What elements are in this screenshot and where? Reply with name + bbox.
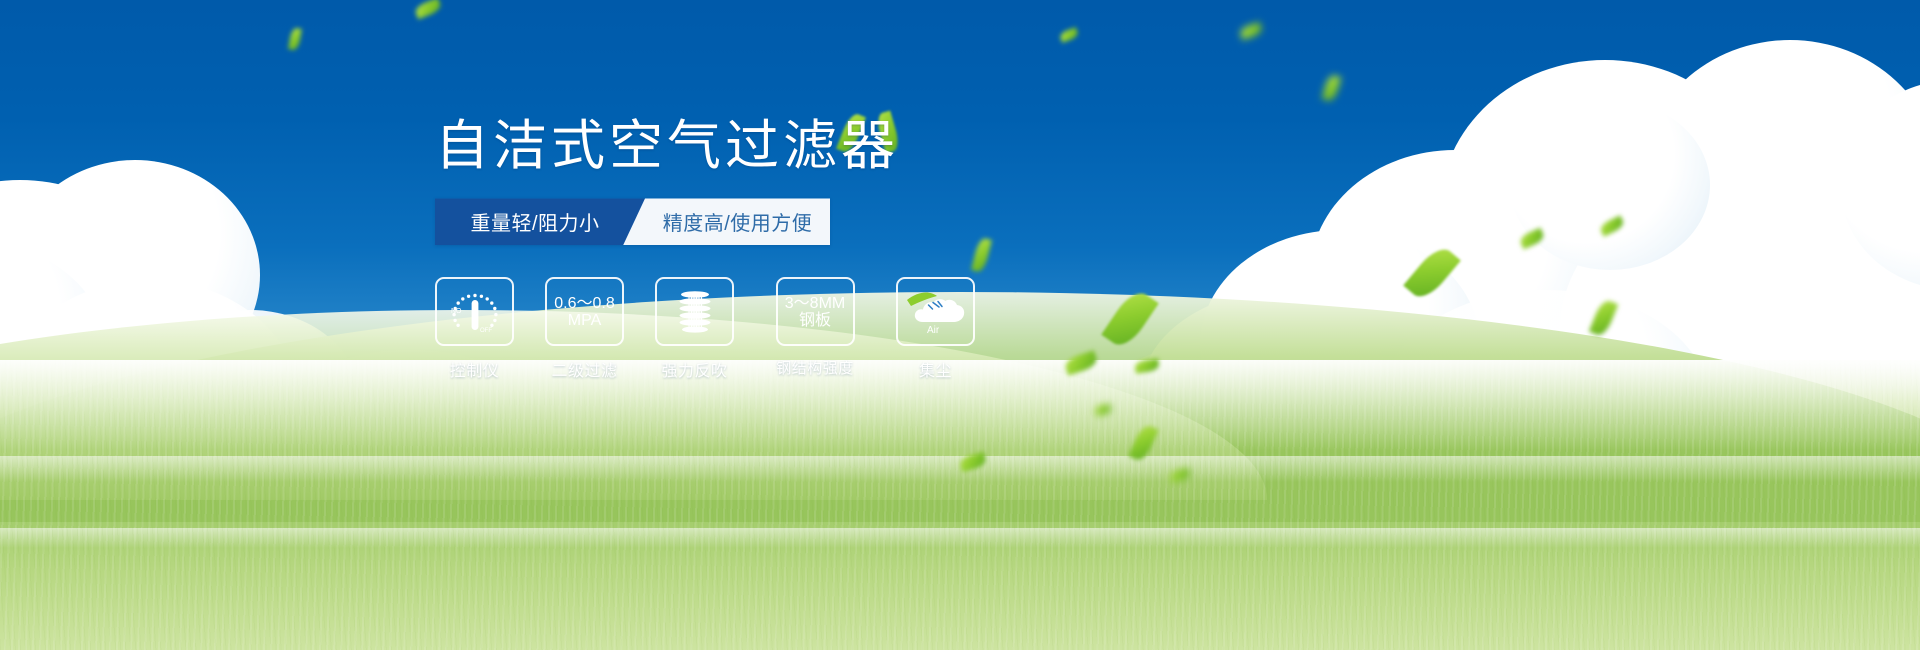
banner-content: 自洁式空气过滤器 重量轻/阻力小 精度高/使用方便 [435,116,1155,381]
feature-caption-steel: 钢结构强度 [776,357,854,378]
feature-list: NO OFF 控制仪 0.6～0.8 MPA 二级过滤 [435,277,1155,381]
air-label: Air [927,325,940,336]
steel-material: 钢板 [785,312,845,329]
pressure-text-icon: 0.6～0.8 MPA [554,295,615,330]
grass-field [0,360,1920,650]
tagline-tab-primary[interactable]: 重量轻/阻力小 [435,198,645,245]
gauge-label-off: OFF [480,328,492,334]
feature-item-blowback[interactable]: 强力反吹 [655,277,734,381]
feature-caption-blowback: 强力反吹 [661,357,727,381]
feature-item-dust[interactable]: Air 集尘 [896,277,975,381]
feature-box-steel: 3～8MM 钢板 [776,277,855,346]
tagline-tab-secondary[interactable]: 精度高/使用方便 [623,198,830,245]
hero-banner: 自洁式空气过滤器 重量轻/阻力小 精度高/使用方便 [0,0,1920,650]
feature-caption-dust: 集尘 [919,357,952,381]
feature-item-pressure[interactable]: 0.6～0.8 MPA 二级过滤 [545,277,624,381]
feature-box-control: NO OFF [435,277,514,346]
feature-box-dust: Air [896,277,975,346]
gauge-label-no: NO [451,308,462,315]
feature-box-pressure: 0.6～0.8 MPA [545,277,624,346]
feature-item-steel[interactable]: 3～8MM 钢板 钢结构强度 [765,277,865,381]
steel-thickness: 3～8MM [785,295,845,312]
air-cloud-icon: Air [905,286,967,338]
steel-plate-text-icon: 3～8MM 钢板 [785,295,845,330]
pressure-value: 0.6～0.8 [554,295,615,312]
feature-box-blowback [655,277,734,346]
pressure-unit: MPA [554,312,615,329]
filter-cartridge-icon [670,287,720,337]
tagline-tabs: 重量轻/阻力小 精度高/使用方便 [435,198,830,245]
feature-caption-pressure: 二级过滤 [551,357,617,381]
banner-title: 自洁式空气过滤器 [435,116,1155,176]
feature-item-control[interactable]: NO OFF 控制仪 [435,277,514,381]
gauge-dial-icon: NO OFF [446,287,504,337]
feature-caption-control: 控制仪 [450,357,500,381]
